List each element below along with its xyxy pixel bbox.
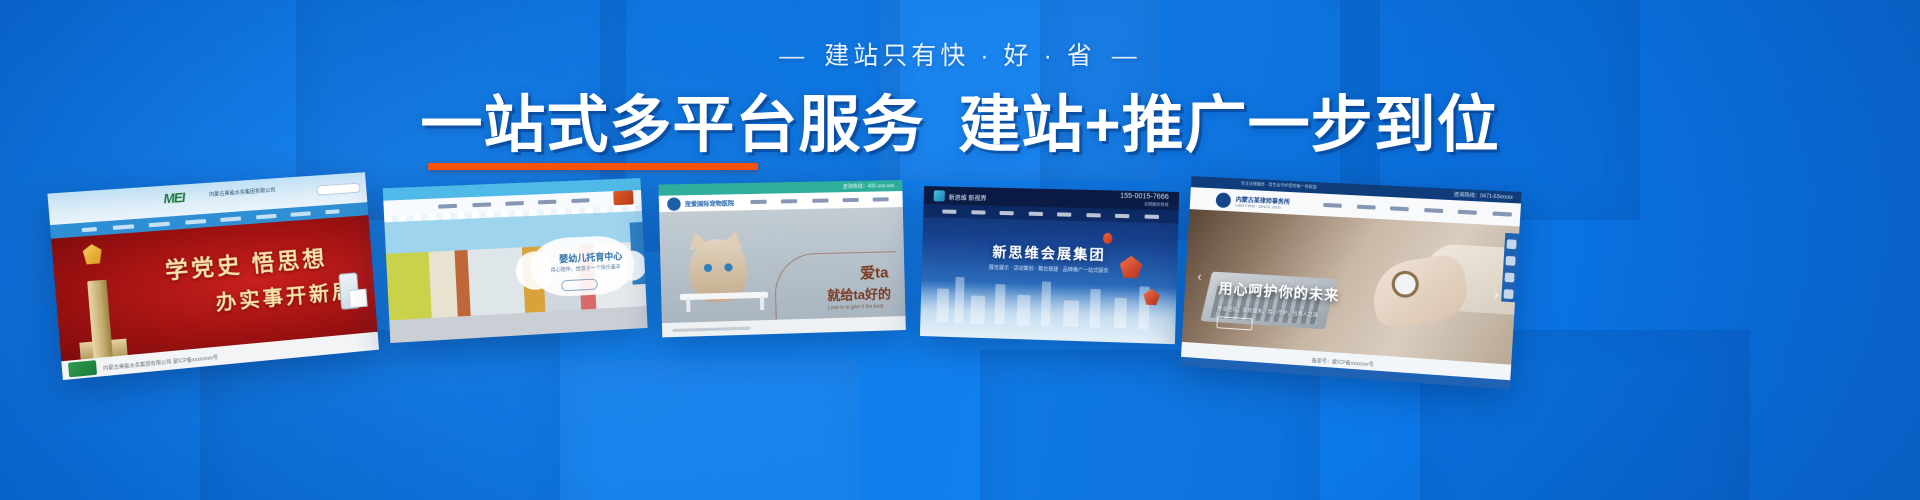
site5-hero-photo: 用心呵护你的未来 专业团队，高效服务，用心守护，当事人之选 ‹ ›	[1182, 209, 1520, 365]
site1-nav-item[interactable]	[113, 224, 135, 230]
site4-phone-label: 全国服务热线	[1144, 201, 1169, 208]
site3-bowl-stand	[680, 292, 768, 300]
site4-nav-item[interactable]	[1115, 214, 1129, 218]
site5-nav-item[interactable]	[1324, 203, 1343, 208]
site2-nav-item[interactable]	[472, 202, 491, 207]
site1-nav-item[interactable]	[82, 227, 97, 232]
site1-nav-item[interactable]	[290, 211, 310, 217]
site5-nav-item[interactable]	[1390, 206, 1409, 211]
site3-phone-text: 咨询热线：400-xxx-xxx	[842, 182, 894, 190]
wechat-icon[interactable]	[1504, 273, 1514, 283]
site3-footer-line	[672, 327, 750, 332]
site4-nav-item[interactable]	[943, 209, 957, 213]
site2-nav-item[interactable]	[438, 204, 457, 209]
headline-part-1: 一站式多平台服务	[420, 91, 924, 160]
thumbnail-exhibition-group-site[interactable]: 新思维 新视界 155-0015-7666 全国服务热线 新思维会展集团 展览展…	[920, 186, 1179, 344]
thumbnail-party-education-site[interactable]: MEI 内蒙古美能水务集团有限公司 学党史 悟思想	[47, 172, 379, 380]
site4-building	[994, 284, 1005, 324]
site4-building	[936, 288, 949, 322]
site3-nav-item[interactable]	[842, 198, 858, 202]
site4-city-skyline	[920, 280, 1177, 344]
site4-logo-icon	[934, 190, 945, 201]
phone-icon[interactable]	[1507, 239, 1517, 249]
banner-headline: 一站式多平台服务建站+推广一步到位	[420, 93, 1499, 160]
site4-phone: 155-0015-7666	[1120, 193, 1169, 201]
site5-hand	[1368, 253, 1471, 330]
site4-building	[1017, 295, 1031, 326]
site5-hero-button[interactable]	[1216, 316, 1253, 330]
site3-nav-item[interactable]	[873, 197, 889, 201]
banner-root: —建站只有快 · 好 · 省— 一站式多平台服务建站+推广一步到位 MEI 内蒙…	[0, 0, 1920, 500]
dash-left-icon: —	[779, 44, 808, 69]
site1-nav-item[interactable]	[325, 209, 339, 214]
banner-headline-wrap: 一站式多平台服务建站+推广一步到位	[420, 93, 1499, 160]
site3-stand-leg	[760, 296, 764, 310]
site2-nav-item[interactable]	[571, 198, 589, 203]
site4-building	[1041, 281, 1051, 326]
site4-nav-item[interactable]	[1144, 214, 1158, 218]
site4-building	[954, 277, 964, 323]
site3-nav-item[interactable]	[781, 199, 797, 203]
thumbnail-legal-services-site[interactable]: 专注法律服务 · 用专业守护您的每一份权益 咨询热线：0471-63xxxxx …	[1180, 176, 1521, 389]
site1-nav-item[interactable]	[256, 214, 277, 220]
banner-subtitle: —建站只有快 · 好 · 省—	[0, 44, 1920, 69]
headline-accent-underline	[428, 163, 758, 170]
site4-brand-name: 新思维 新视界	[949, 193, 987, 203]
site1-nav-item[interactable]	[149, 221, 170, 227]
thumbnail-kindergarten-site[interactable]: 婴幼儿托育中心 用心陪伴，给孩子一个快乐童年	[383, 178, 648, 343]
headline-part-2: 建站+推广一步到位	[958, 91, 1499, 160]
site3-slogan-2: 就给ta好的	[827, 283, 891, 304]
site3-stand-leg	[686, 298, 690, 312]
site4-nav-item[interactable]	[1000, 211, 1014, 215]
dash-right-icon: —	[1112, 44, 1141, 69]
site5-nav-item[interactable]	[1357, 204, 1376, 209]
thumbnail-pet-care-site[interactable]: 咨询热线：400-xxx-xxx 宠爱国际宠物医院	[658, 180, 905, 337]
site4-nav-item[interactable]	[971, 210, 985, 214]
site2-nav-item[interactable]	[505, 201, 524, 206]
qq-icon[interactable]	[1505, 256, 1515, 266]
site1-footer-logo	[68, 360, 97, 377]
site5-nav-item[interactable]	[1424, 208, 1443, 213]
site1-footer-text: 内蒙古美能水务集团有限公司 蒙ICP备xxxxxxxx号	[103, 354, 218, 372]
site3-slogan-1: 爱ta	[860, 261, 889, 283]
carousel-prev-icon[interactable]: ‹	[1191, 268, 1208, 285]
site4-building	[1114, 298, 1127, 329]
banner-subtitle-text: 建站只有快 · 好 · 省	[824, 42, 1095, 70]
top-icon[interactable]	[1503, 289, 1513, 299]
site2-nav-item[interactable]	[538, 199, 556, 204]
site4-nav-item[interactable]	[1057, 212, 1071, 216]
site1-nav-item[interactable]	[185, 219, 206, 225]
site1-hero-line2: 办实事开新局	[214, 275, 355, 316]
site2-cloud-button[interactable]	[561, 278, 598, 291]
site1-nav-item[interactable]	[220, 216, 241, 222]
site3-brand-name: 宠爱国际宠物医院	[685, 198, 735, 208]
party-emblem-icon	[80, 243, 105, 266]
site1-logo: MEI	[163, 190, 185, 207]
site3-nav-item[interactable]	[750, 199, 766, 203]
site3-nav-item[interactable]	[812, 198, 828, 202]
site5-nav-item[interactable]	[1458, 209, 1477, 214]
site5-side-rail[interactable]	[1501, 233, 1519, 302]
banner-copy: —建站只有快 · 好 · 省— 一站式多平台服务建站+推广一步到位	[0, 44, 1920, 160]
site5-nav-item[interactable]	[1492, 211, 1511, 216]
site4-building	[970, 295, 985, 324]
site2-logo	[613, 190, 634, 205]
site4-nav-item[interactable]	[1028, 211, 1042, 215]
site4-nav-item[interactable]	[1086, 213, 1100, 217]
site4-building	[1089, 289, 1100, 328]
site3-hero-photo: 爱ta 就给ta好的 Love is to give it the best	[659, 207, 905, 323]
site4-building	[1063, 300, 1079, 327]
site1-qr-code	[349, 289, 368, 309]
